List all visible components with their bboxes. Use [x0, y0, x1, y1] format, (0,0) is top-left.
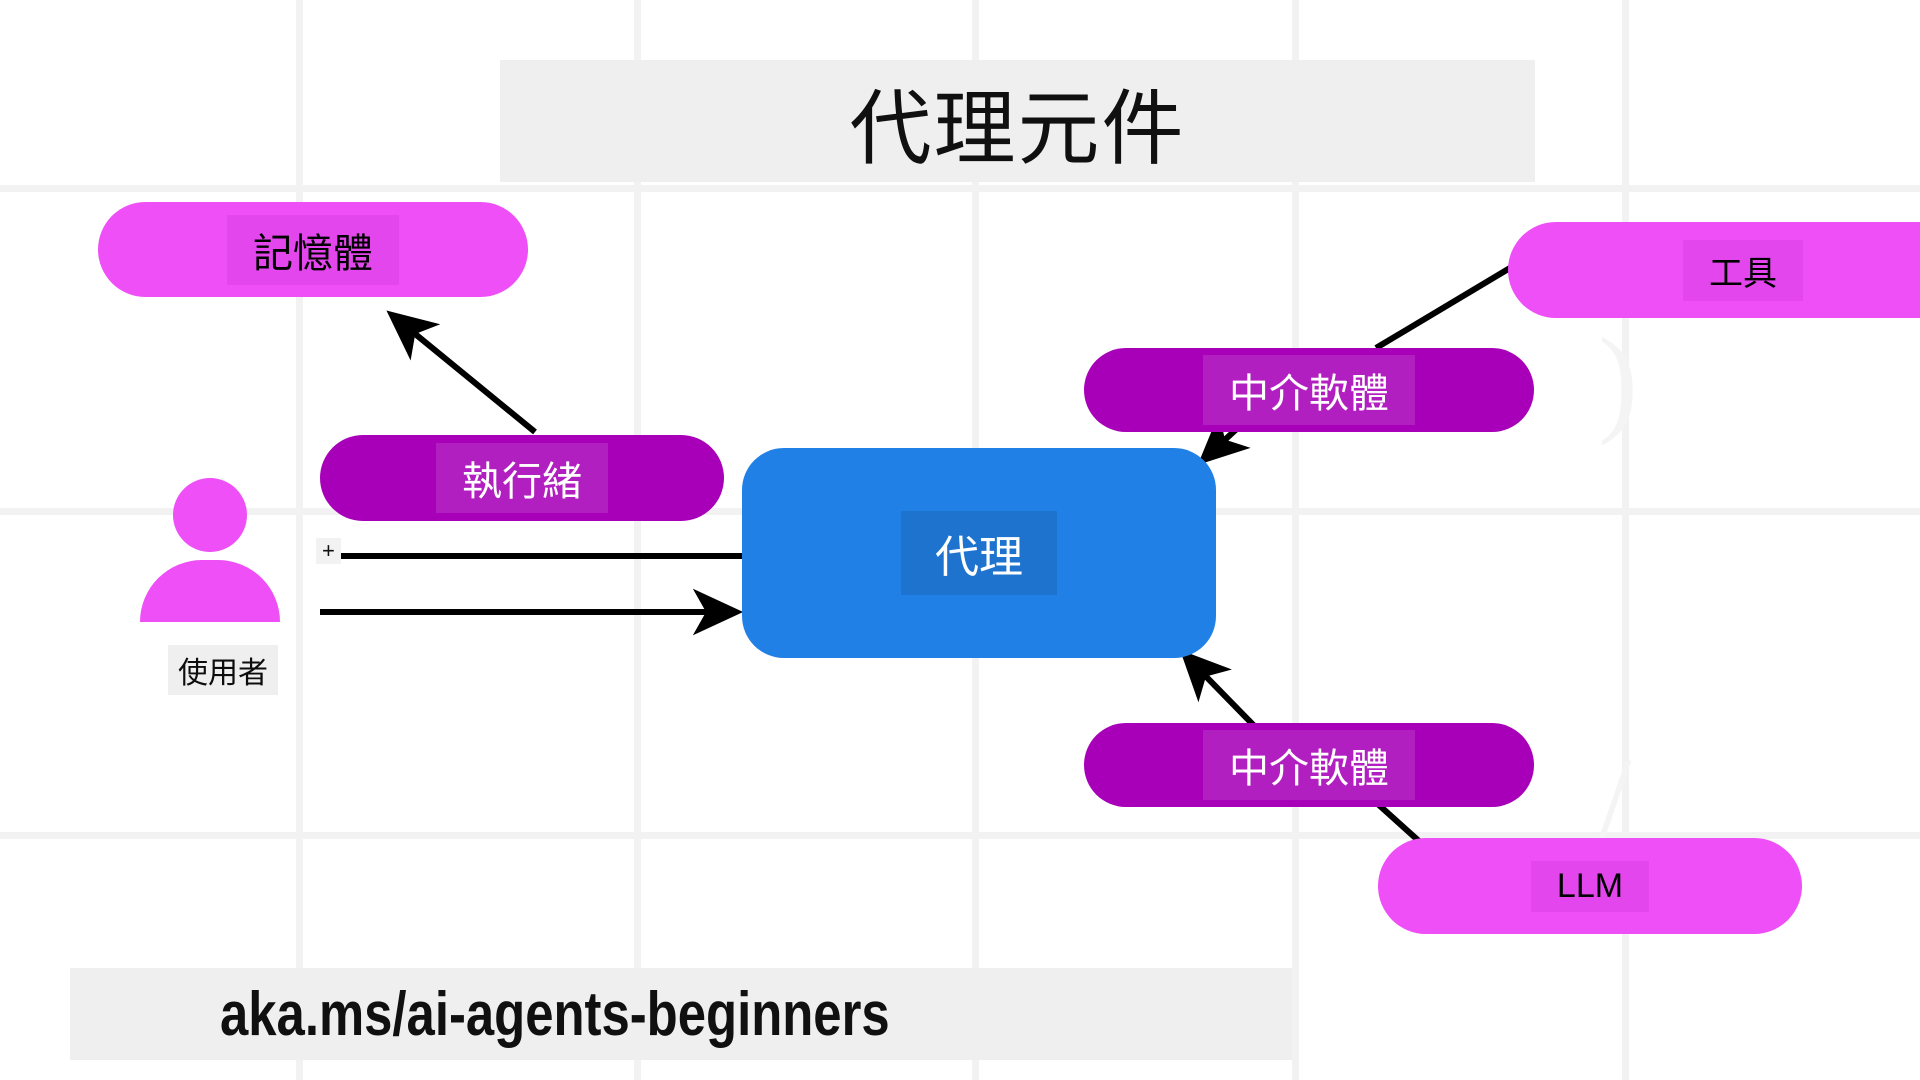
gridline-horizontal: [0, 185, 1920, 192]
node-middleware-bottom-label: 中介軟體: [1203, 730, 1415, 800]
footer-url: aka.ms/ai-agents-beginners: [220, 979, 890, 1050]
node-memory-label: 記憶體: [227, 215, 399, 285]
node-middleware-top-label: 中介軟體: [1203, 355, 1415, 425]
node-llm-label: LLM: [1531, 861, 1649, 912]
node-thread[interactable]: 執行緒: [320, 435, 724, 521]
connector-tools-to-middleware-top: [1376, 262, 1520, 348]
plus-marker-icon: +: [316, 538, 341, 564]
connector-thread-to-memory: [392, 315, 535, 432]
user-head-shape: [173, 478, 247, 552]
node-thread-label: 執行緒: [436, 443, 608, 513]
node-llm[interactable]: LLM: [1378, 838, 1802, 934]
user-label: 使用者: [168, 645, 278, 695]
node-agent-label: 代理: [901, 511, 1057, 595]
node-tools[interactable]: 工具: [1508, 222, 1920, 318]
diagram-canvas: ) / 代理元件 記憶體 執行緒 代理: [0, 0, 1920, 1080]
gridline-vertical: [296, 0, 303, 1080]
node-agent[interactable]: 代理: [742, 448, 1216, 658]
user-body-shape: [140, 560, 280, 622]
node-memory[interactable]: 記憶體: [98, 202, 528, 297]
title-banner: 代理元件: [500, 60, 1535, 182]
node-middleware-top[interactable]: 中介軟體: [1084, 348, 1534, 432]
user-person-icon: [140, 478, 280, 618]
page-title: 代理元件: [849, 62, 1185, 181]
watermark-ghost-mark: ): [1598, 320, 1638, 440]
footer-banner: aka.ms/ai-agents-beginners: [70, 968, 1292, 1060]
node-tools-label: 工具: [1683, 240, 1803, 301]
node-middleware-bottom[interactable]: 中介軟體: [1084, 723, 1534, 807]
